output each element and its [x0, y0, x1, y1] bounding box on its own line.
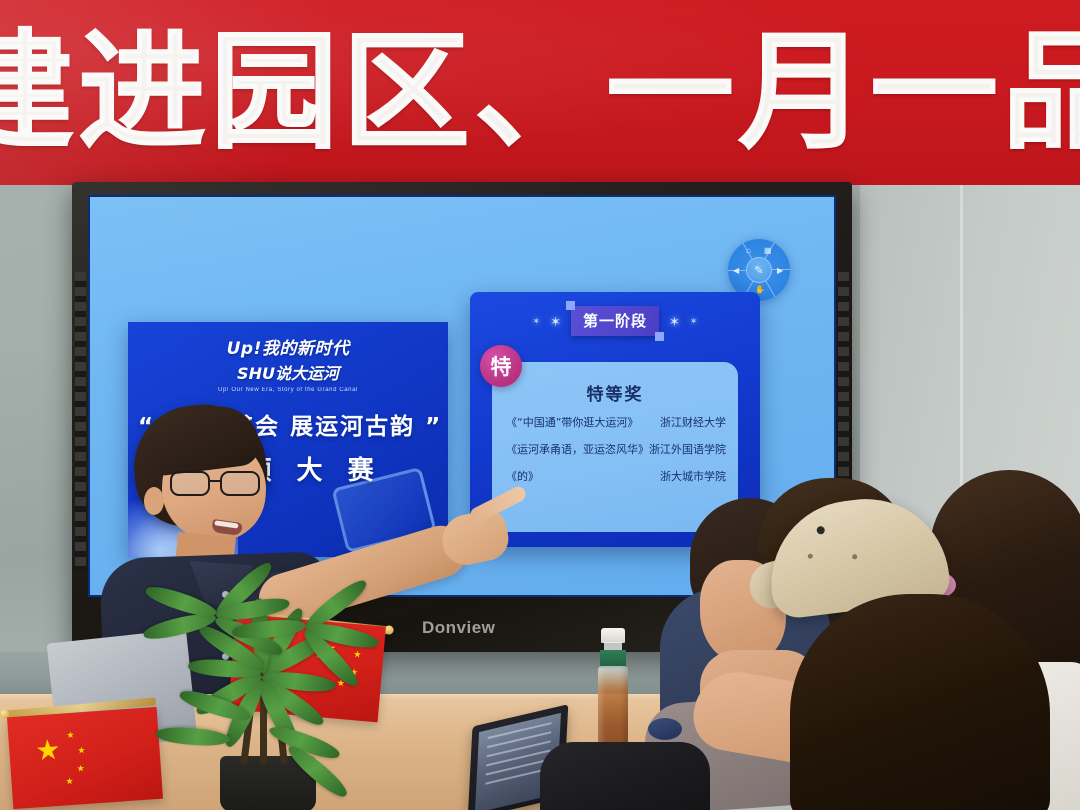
- bottle-body: [598, 666, 628, 750]
- red-banner: “党建进园区、一月一品牌”: [0, 0, 1080, 185]
- sparkle-icon: ✶: [669, 315, 680, 328]
- campaign-logo: Up!我的新时代 SHU说大运河 Up! Our New Era, Story …: [218, 334, 358, 393]
- pen-icon[interactable]: ✎: [746, 257, 772, 283]
- table-row: 《的》 浙大城市学院: [506, 468, 726, 484]
- presenter-glasses: [170, 471, 266, 497]
- photo-scene: “党建进园区、一月一品牌” Donview ⌂ ▦ ◀ ▶: [0, 0, 1080, 810]
- apps-icon[interactable]: ▦: [764, 247, 772, 255]
- left-port-strip: [75, 272, 86, 572]
- money-tree-plant: [120, 560, 420, 810]
- logo-subtitle: Up! Our New Era, Story of the Grand Cana…: [218, 387, 358, 393]
- sparkle-icon: ✶: [533, 317, 541, 326]
- award-org: 浙江外国语学院: [649, 441, 726, 457]
- presenter-ear: [144, 487, 164, 515]
- table-row: 《运河承甬语，亚运恣风华》 浙江外国语学院: [506, 441, 726, 457]
- stage-label: 第一阶段: [571, 306, 659, 336]
- tea-bottle: [596, 628, 630, 753]
- bottle-cap: [601, 628, 625, 643]
- flag-star-icon: ★: [34, 736, 61, 766]
- logo-line-2: SHU说大运河: [218, 360, 358, 384]
- flag-star-icon: ★: [66, 731, 75, 741]
- logo-line-1: Up!我的新时代: [218, 334, 358, 359]
- sparkle-icon: ✶: [550, 315, 561, 328]
- glasses-on-table: [648, 718, 682, 740]
- left-arrow-icon[interactable]: ◀: [733, 267, 739, 275]
- table-row: 《“中国通”带你逛大运河》 浙江财经大学: [506, 414, 726, 430]
- dark-bag: [540, 742, 710, 810]
- flag-star-icon: ★: [76, 764, 85, 774]
- flag-star-icon: ★: [77, 746, 86, 756]
- banner-title: “党建进园区、一月一品牌”: [0, 29, 1080, 157]
- home-icon[interactable]: ⌂: [746, 247, 751, 255]
- right-arrow-icon[interactable]: ▶: [777, 267, 783, 275]
- award-org: 浙江财经大学: [660, 414, 726, 430]
- award-list: 《“中国通”带你逛大运河》 浙江财经大学 《运河承甬语，亚运恣风华》 浙江外国语…: [506, 414, 726, 495]
- flag-star-icon: ★: [65, 777, 74, 787]
- sparkle-icon: ✶: [690, 317, 698, 326]
- stage-header: ✶ ✶ 第一阶段 ✶ ✶: [470, 306, 760, 336]
- audience-foreground-hair: [790, 594, 1050, 810]
- award-org: 浙大城市学院: [660, 468, 726, 484]
